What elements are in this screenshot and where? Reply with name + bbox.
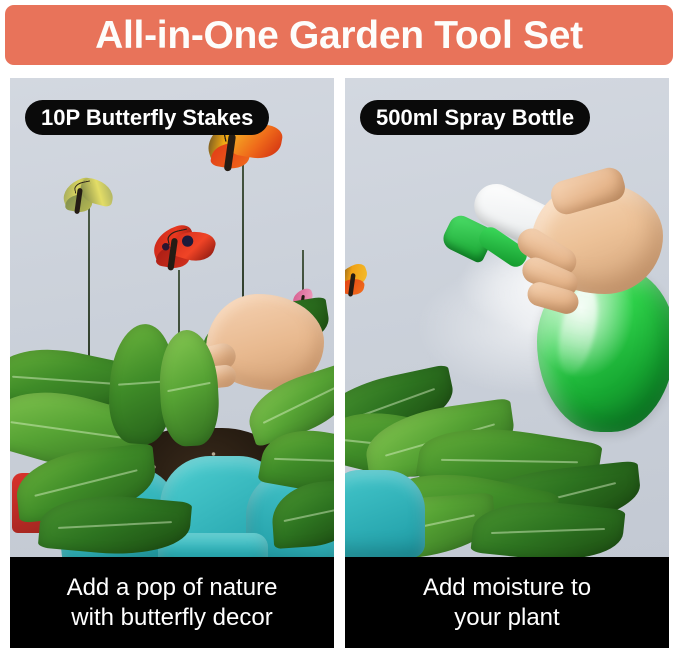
page-title: All-in-One Garden Tool Set: [95, 16, 583, 55]
panel-spray-bottle: 500ml Spray Bottle Add moisture to your …: [345, 78, 669, 648]
caption-line-1: Add a pop of nature: [67, 573, 278, 602]
panel-label-text: 500ml Spray Bottle: [376, 107, 574, 129]
caption-line-2: with butterfly decor: [71, 603, 272, 632]
butterfly-stakes-photo: 10P Butterfly Stakes: [10, 78, 334, 557]
teal-planter: [345, 470, 425, 557]
panel-grid: 10P Butterfly Stakes Add a pop of nature…: [0, 78, 679, 653]
caption-line-1: Add moisture to: [423, 573, 591, 602]
panel-butterfly-stakes: 10P Butterfly Stakes Add a pop of nature…: [10, 78, 334, 648]
spray-bottle-photo: 500ml Spray Bottle: [345, 78, 669, 557]
caption-spray-bottle: Add moisture to your plant: [345, 557, 669, 648]
panel-label-butterfly-stakes: 10P Butterfly Stakes: [25, 100, 269, 135]
panel-label-spray-bottle: 500ml Spray Bottle: [360, 100, 590, 135]
header-banner: All-in-One Garden Tool Set: [5, 5, 673, 65]
caption-line-2: your plant: [454, 603, 559, 632]
caption-butterfly-stakes: Add a pop of nature with butterfly decor: [10, 557, 334, 648]
product-infographic: All-in-One Garden Tool Set: [0, 0, 679, 653]
panel-label-text: 10P Butterfly Stakes: [41, 107, 253, 129]
